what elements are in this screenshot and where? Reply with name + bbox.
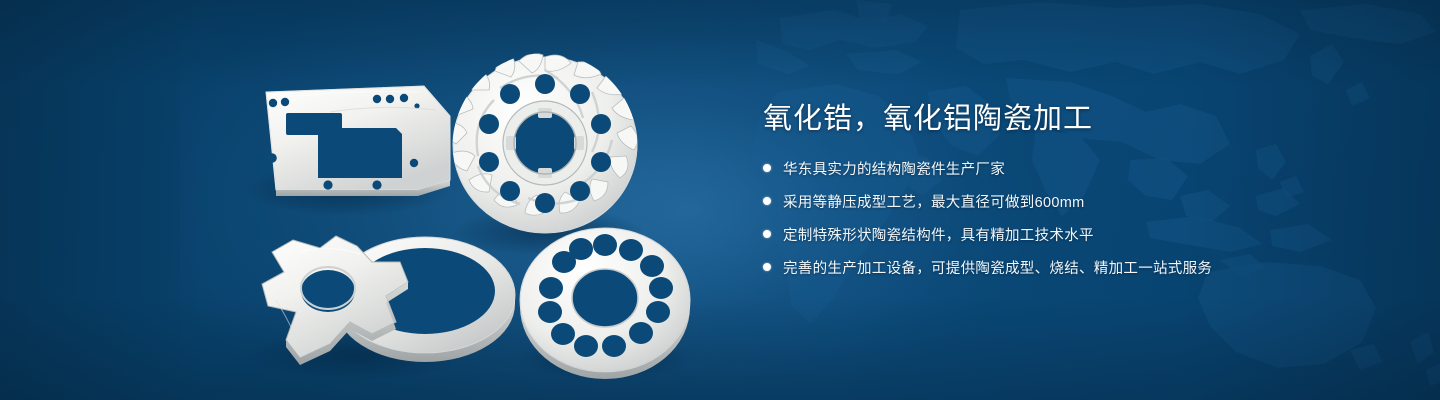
- bullet-dot-icon: [763, 197, 771, 205]
- bullet-dot-icon: [763, 263, 771, 271]
- banner-headline: 氧化锆，氧化铝陶瓷加工: [763, 104, 1383, 136]
- feature-item: 完善的生产加工设备，可提供陶瓷成型、烧结、精加工一站式服务: [763, 257, 1383, 278]
- feature-item: 定制特殊形状陶瓷结构件，具有精加工技术水平: [763, 224, 1383, 245]
- feature-item: 华东具实力的结构陶瓷件生产厂家: [763, 158, 1383, 179]
- product-photo-group: [0, 0, 720, 400]
- feature-text: 定制特殊形状陶瓷结构件，具有精加工技术水平: [783, 224, 1094, 245]
- bullet-dot-icon: [763, 164, 771, 172]
- feature-item: 采用等静压成型工艺，最大直径可做到600mm: [763, 191, 1383, 212]
- feature-text: 采用等静压成型工艺，最大直径可做到600mm: [783, 191, 1084, 212]
- ceramic-perforated-disc-shape: [520, 228, 690, 379]
- bullet-dot-icon: [763, 230, 771, 238]
- feature-text: 完善的生产加工设备，可提供陶瓷成型、烧结、精加工一站式服务: [783, 257, 1212, 278]
- promo-banner: 氧化锆，氧化铝陶瓷加工 华东具实力的结构陶瓷件生产厂家 采用等静压成型工艺，最大…: [0, 0, 1440, 400]
- feature-list: 华东具实力的结构陶瓷件生产厂家 采用等静压成型工艺，最大直径可做到600mm 定…: [763, 158, 1383, 278]
- ceramic-plate-shape: [266, 86, 450, 196]
- banner-text-block: 氧化锆，氧化铝陶瓷加工 华东具实力的结构陶瓷件生产厂家 采用等静压成型工艺，最大…: [763, 104, 1383, 278]
- feature-text: 华东具实力的结构陶瓷件生产厂家: [783, 158, 1005, 179]
- ceramic-impeller-shape: [447, 53, 638, 233]
